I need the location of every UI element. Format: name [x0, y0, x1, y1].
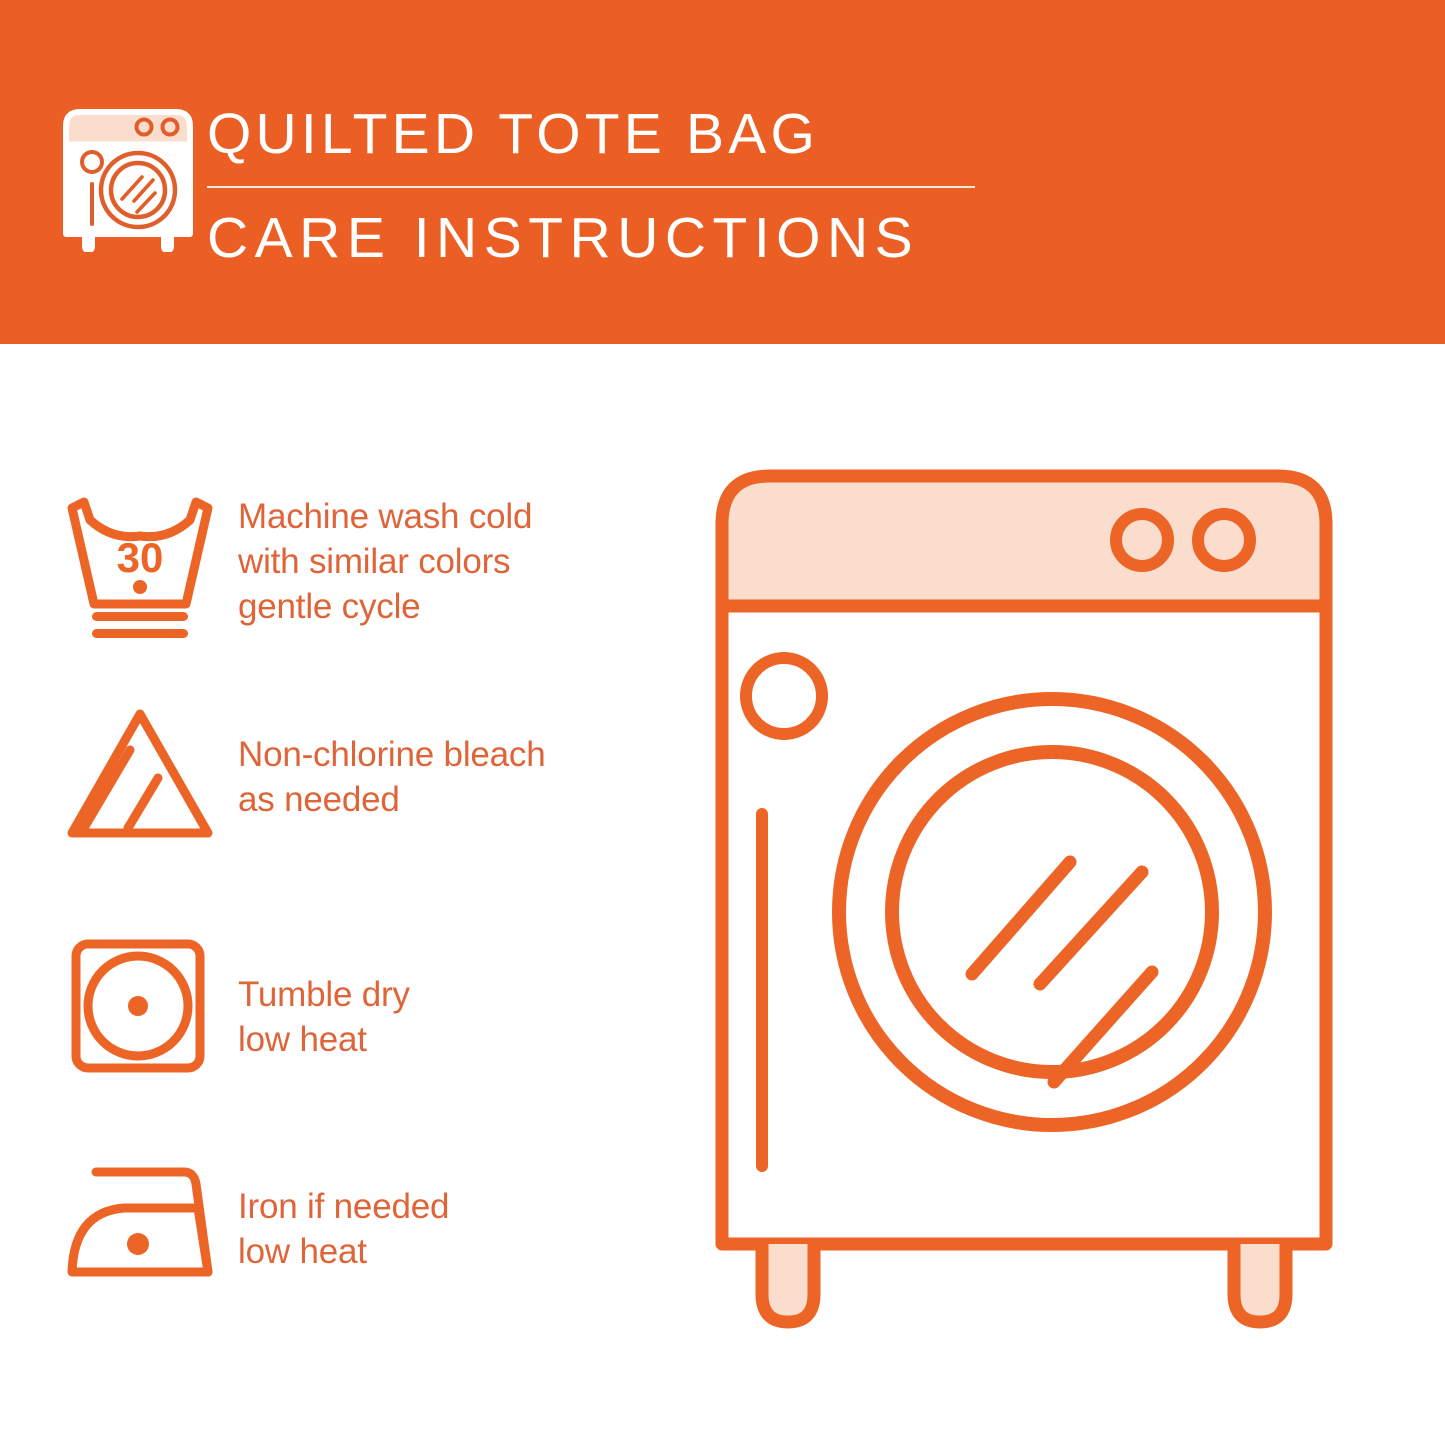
- care-row-tumble-dry: Tumble dry low heat: [62, 932, 682, 1082]
- header-title-block: QUILTED TOTE BAG CARE INSTRUCTIONS: [207, 98, 1307, 274]
- title-divider: [207, 186, 975, 188]
- wash-tub-30-icon: 30: [62, 490, 238, 640]
- care-instructions-list: 30 Machine wash cold with similar colors…: [0, 344, 700, 1445]
- header-banner: QUILTED TOTE BAG CARE INSTRUCTIONS: [0, 0, 1445, 344]
- care-row-machine-wash: 30 Machine wash cold with similar colors…: [62, 490, 682, 640]
- page-title: QUILTED TOTE BAG: [207, 98, 1307, 170]
- care-label-tumble-dry: Tumble dry low heat: [238, 932, 410, 1062]
- care-label-bleach: Non-chlorine bleach as needed: [238, 700, 546, 822]
- washing-machine-illustration: [700, 454, 1400, 1354]
- tumble-dry-icon: [62, 932, 238, 1082]
- wash-temperature-value: 30: [117, 534, 164, 581]
- bleach-triangle-icon: [62, 700, 238, 850]
- iron-icon: [62, 1150, 238, 1300]
- washing-machine-icon: [62, 100, 194, 252]
- content-area: 30 Machine wash cold with similar colors…: [0, 344, 1445, 1445]
- care-label-iron: Iron if needed low heat: [238, 1150, 449, 1274]
- care-row-bleach: Non-chlorine bleach as needed: [62, 700, 682, 850]
- page-subtitle: CARE INSTRUCTIONS: [207, 202, 1307, 274]
- care-row-iron: Iron if needed low heat: [62, 1150, 682, 1300]
- care-label-machine-wash: Machine wash cold with similar colors ge…: [238, 490, 532, 629]
